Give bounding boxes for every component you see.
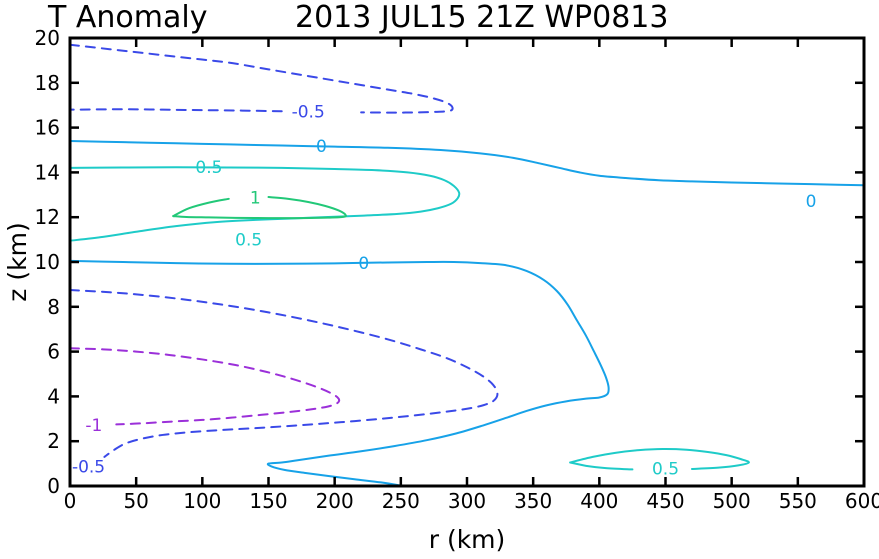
x-tick-label: 0 (64, 489, 77, 513)
plot-title-right: 2013 JUL15 21Z WP0813 (295, 0, 668, 35)
figure-background (0, 0, 879, 559)
x-tick-label: 350 (514, 489, 552, 513)
contour-value-label: 0.5 (652, 460, 679, 480)
x-tick-label: 150 (249, 489, 287, 513)
y-tick-label: 0 (47, 474, 60, 498)
y-tick-label: 16 (35, 116, 60, 140)
y-tick-label: 6 (47, 340, 60, 364)
y-tick-label: 18 (35, 71, 60, 95)
x-tick-label: 450 (646, 489, 684, 513)
x-axis-title: r (km) (429, 525, 506, 554)
contour-value-label: 0 (806, 192, 817, 212)
contour-value-label: -0.5 (72, 458, 105, 478)
contour-value-label: -0.5 (292, 102, 325, 122)
contour-value-label: -1 (85, 416, 102, 436)
y-tick-label: 8 (47, 295, 60, 319)
y-axis-title: z (km) (3, 222, 32, 301)
contour-value-label: 1 (250, 188, 261, 208)
x-tick-label: 300 (448, 489, 486, 513)
y-tick-label: 20 (35, 26, 60, 50)
plot-title-left: T Anomaly (47, 0, 207, 35)
y-tick-label: 10 (35, 250, 60, 274)
contour-value-label: 0.5 (235, 231, 262, 251)
y-tick-label: 2 (47, 429, 60, 453)
x-tick-label: 400 (580, 489, 618, 513)
x-tick-label: 50 (123, 489, 148, 513)
contour-plot-figure: T Anomaly 2013 JUL15 21Z WP0813 -0.500.5… (0, 0, 879, 559)
y-tick-label: 12 (35, 205, 60, 229)
x-tick-label: 600 (845, 489, 879, 513)
contour-value-label: 0.5 (195, 158, 222, 178)
x-tick-label: 200 (316, 489, 354, 513)
x-tick-label: 100 (183, 489, 221, 513)
x-tick-label: 250 (382, 489, 420, 513)
y-tick-label: 14 (35, 160, 60, 184)
contour-value-label: 0 (316, 137, 327, 157)
x-tick-label: 500 (713, 489, 751, 513)
y-tick-label: 4 (47, 384, 60, 408)
x-tick-label: 550 (779, 489, 817, 513)
contour-value-label: 0 (358, 254, 369, 274)
